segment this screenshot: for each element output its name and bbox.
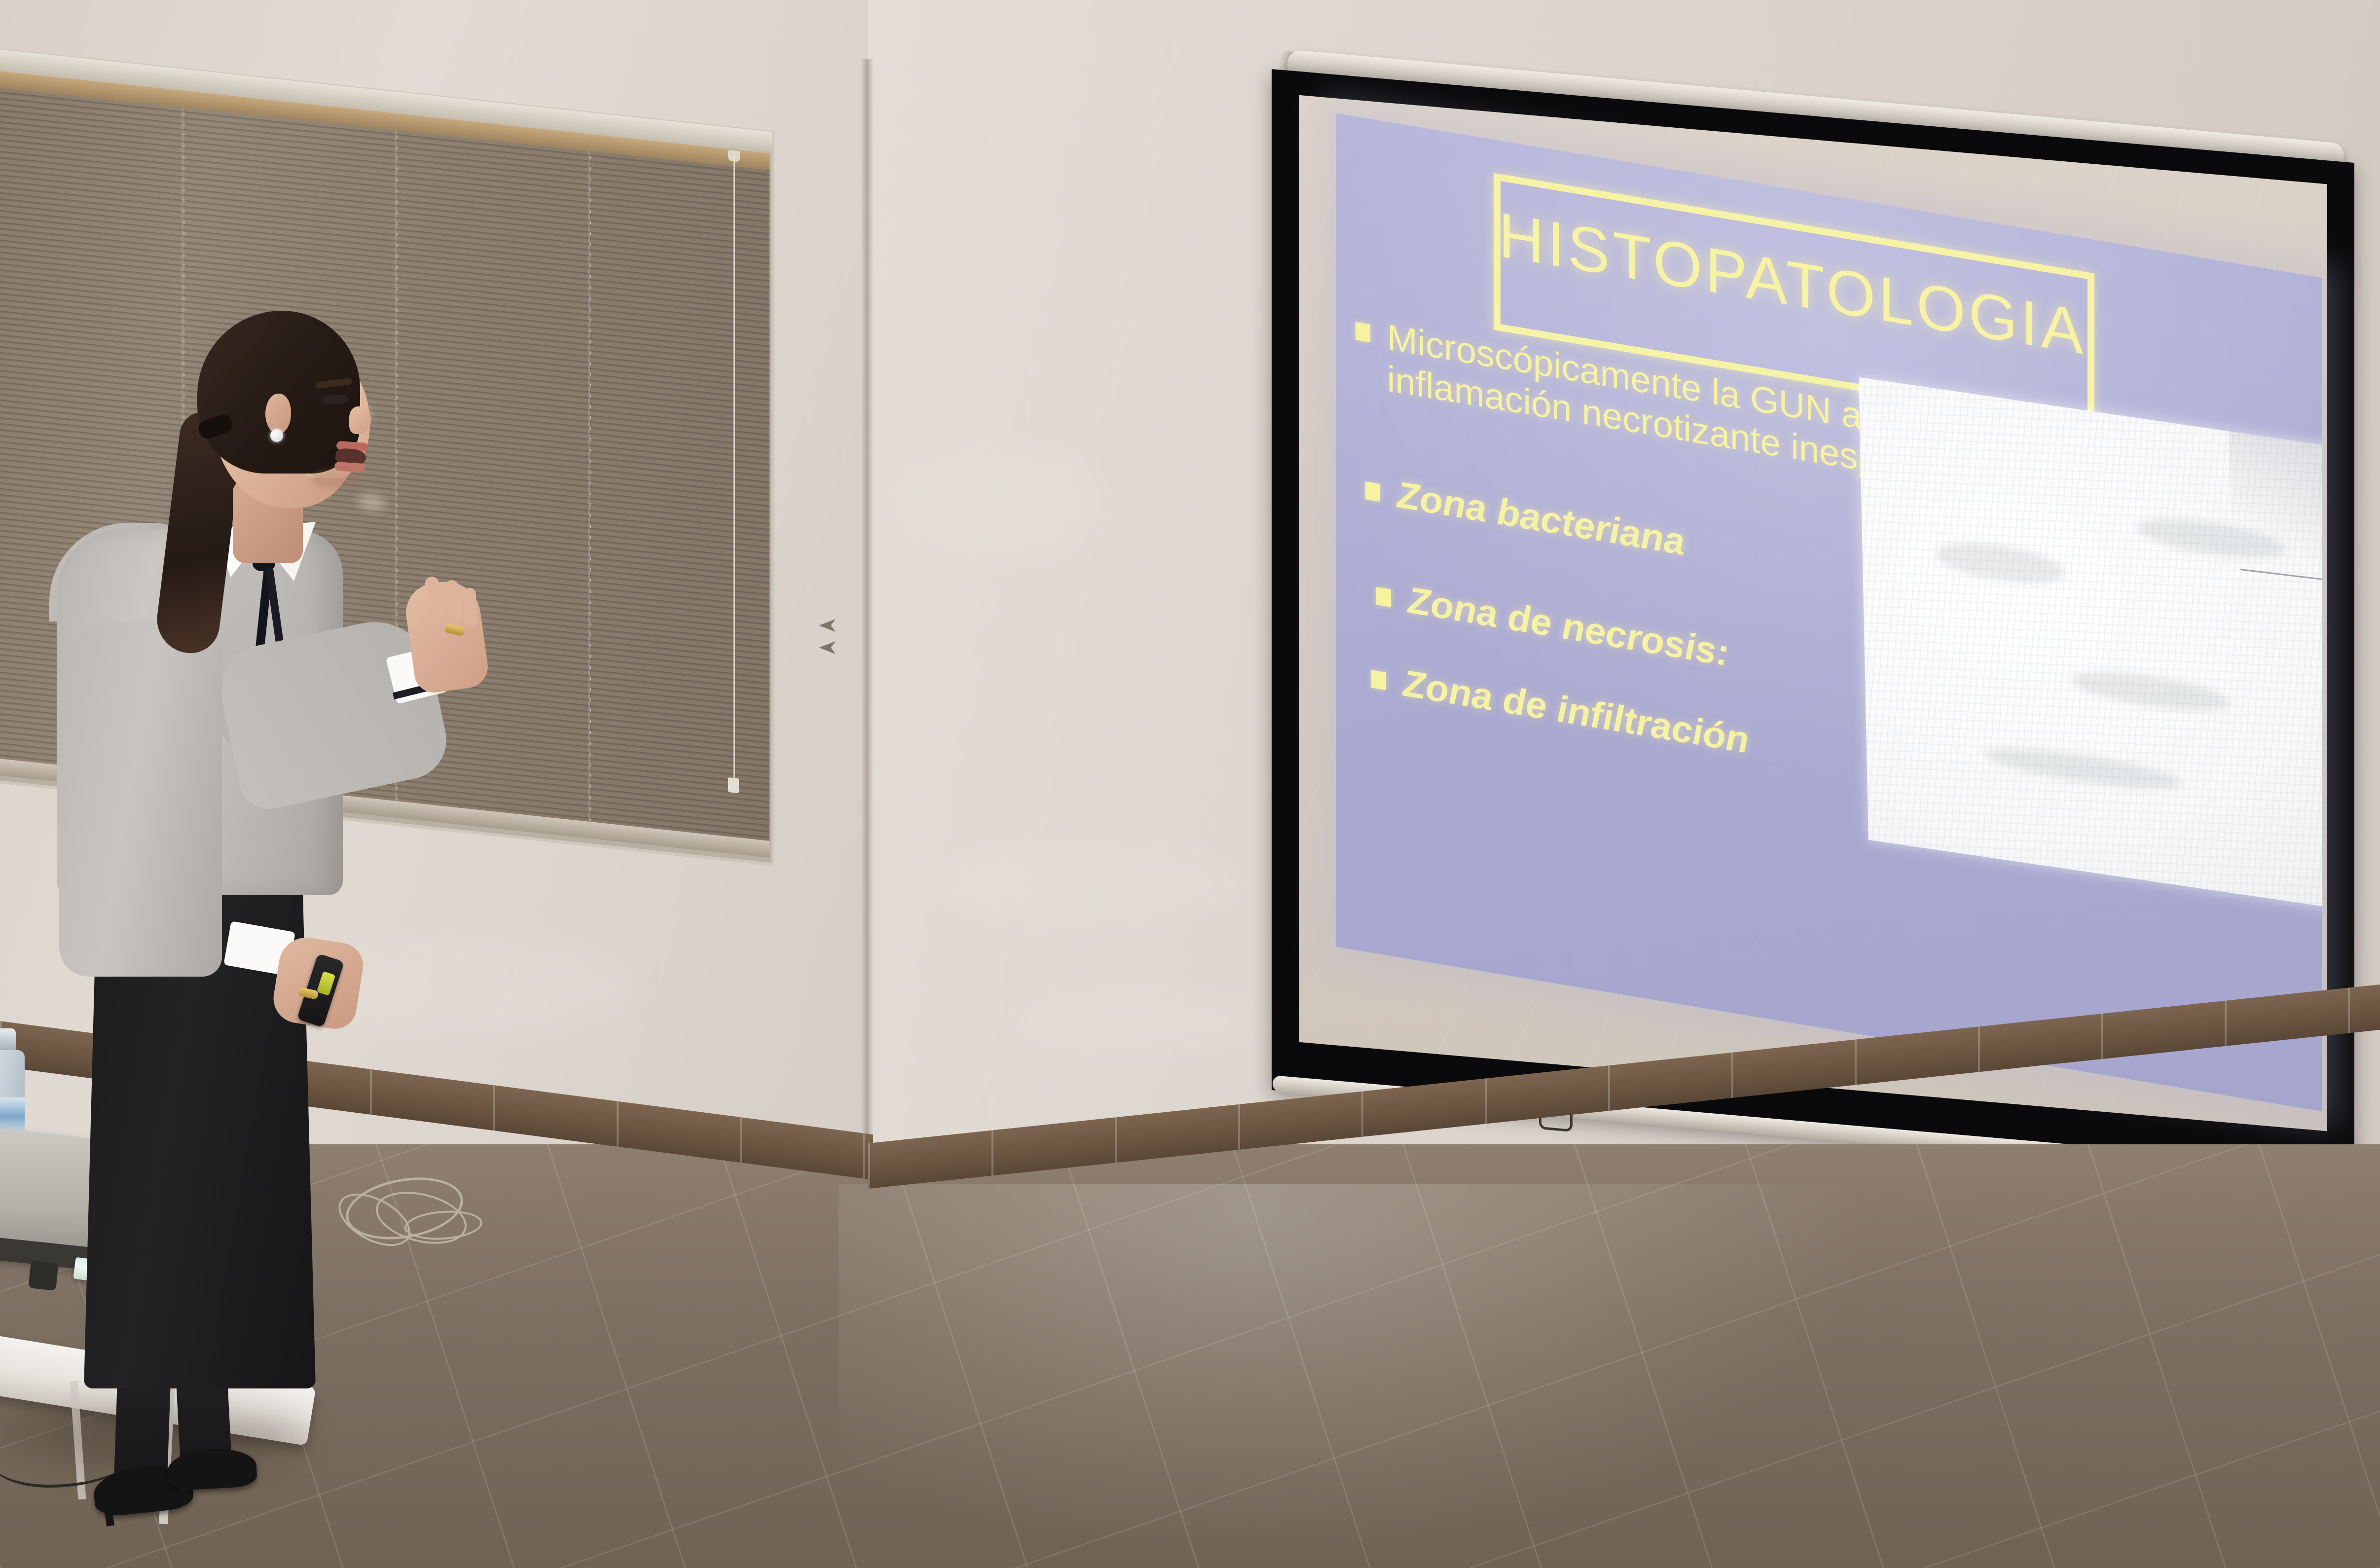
earring [270, 429, 283, 442]
blind-ladder-cord [590, 156, 591, 832]
chin-shadow [311, 469, 365, 489]
blind-pull-cord[interactable] [733, 156, 735, 783]
micrograph-shading [2229, 431, 2322, 596]
finger [463, 588, 477, 627]
lower-arm [59, 621, 222, 977]
wall-corner [861, 59, 874, 1258]
bullet-square-icon [1355, 322, 1370, 342]
presenter [20, 306, 513, 1568]
projected-slide: HISTOPATOLOGIA Microscópicamente la GUN … [1336, 113, 2322, 1111]
blind-cord-weight[interactable] [728, 777, 739, 793]
ear [265, 394, 291, 434]
micrograph-texture [1984, 741, 2182, 797]
wall-streak [898, 444, 1105, 562]
photograph-scene: HISTOPATOLOGIA Microscópicamente la GUN … [0, 0, 2380, 1568]
bullet-square-icon [1365, 481, 1380, 502]
bullet-square-icon [1376, 587, 1391, 607]
hair [197, 311, 360, 474]
wall-streak [1011, 986, 1268, 1056]
micrograph-texture [2071, 665, 2230, 718]
nose [349, 406, 371, 434]
bullet-square-icon [1371, 670, 1386, 690]
wall-streak [937, 839, 1243, 927]
histology-micrograph-image [1859, 377, 2322, 911]
micrograph-texture [1936, 537, 2065, 590]
